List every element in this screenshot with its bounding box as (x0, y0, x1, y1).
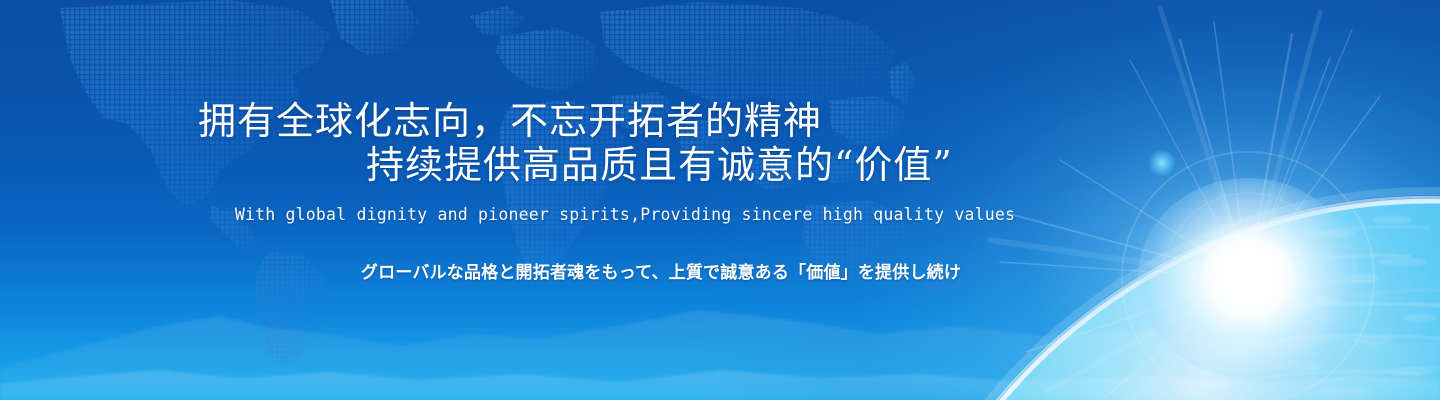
banner-text-block: 拥有全球化志向，不忘开拓者的精神 持续提供高品质且有诚意的“价值” With g… (0, 0, 1440, 400)
headline-line-2: 持续提供高品质且有诚意的“价值” (366, 134, 953, 189)
subtitle-english: With global dignity and pioneer spirits,… (0, 205, 1250, 224)
subtitle-japanese: グローバルな品格と開拓者魂をもって、上質で誠意ある「価値」を提供し続け (0, 258, 1322, 283)
hero-banner: 拥有全球化志向，不忘开拓者的精神 持续提供高品质且有诚意的“价值” With g… (0, 0, 1440, 400)
